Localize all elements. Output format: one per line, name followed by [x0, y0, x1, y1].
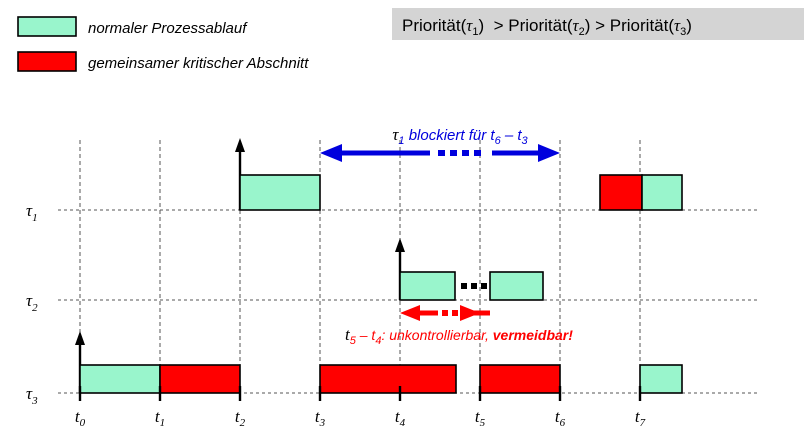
priority-gt-sym-2: > — [595, 16, 605, 35]
blocking-annotation: τ1 blockiert für t6 – t3 — [320, 125, 560, 162]
priority-p3-text: Priorität( — [610, 16, 675, 35]
block-tau3-critical-3 — [480, 365, 560, 393]
track-label-tau1-sub: 1 — [32, 212, 38, 224]
priority-formula: Priorität(τ1) > Priorität(τ2) > Prioritä… — [402, 16, 692, 38]
track-label-tau2-sub: 2 — [32, 302, 38, 314]
track-tau2 — [395, 238, 543, 300]
tick-label-t2: t2 — [235, 407, 246, 429]
uncontrollable-annotation: t5 – t4: unkontrollierbar, vermeidbar! — [345, 305, 573, 347]
block-tau3-critical-1 — [160, 365, 240, 393]
tick-label-t5: t5 — [475, 407, 486, 429]
gridlines — [80, 140, 640, 393]
block-tau1-critical-1 — [600, 175, 642, 210]
track-label-tau2: τ2 — [26, 291, 38, 314]
tick-label-t1: t1 — [155, 407, 165, 429]
block-tau3-critical-2 — [320, 365, 456, 393]
priority-p2-text: Priorität( — [508, 16, 573, 35]
track-label-tau1: τ1 — [26, 201, 38, 224]
tick-label-t6-sub: 6 — [560, 417, 566, 429]
unc-bold: vermeidbar! — [493, 327, 573, 343]
block-tau3-normal-1 — [80, 365, 160, 393]
block-tau2-normal-2 — [490, 272, 543, 300]
legend-label-critical: gemeinsamer kritischer Abschnitt — [88, 55, 309, 72]
priority-gt-sym-1: > — [494, 16, 504, 35]
block-tau1-normal-1 — [240, 175, 320, 210]
arrival-arrow-tau2-head — [395, 238, 405, 252]
uncontrollable-arrowhead-left — [400, 305, 420, 321]
diagram-canvas: normaler Prozessablauf gemeinsamer kriti… — [0, 0, 812, 432]
tick-label-t3-sub: 3 — [319, 417, 326, 429]
tick-label-t4: t4 — [395, 407, 406, 429]
track-label-tau3: τ3 — [26, 384, 38, 407]
priority-p3-close: ) — [686, 16, 692, 35]
block-tau2-normal-1 — [400, 272, 455, 300]
priority-inversion-diagram: normaler Prozessablauf gemeinsamer kriti… — [0, 0, 812, 432]
blocking-sub3: 3 — [522, 135, 529, 147]
uncontrollable-arrowhead-right — [460, 305, 480, 321]
tick-label-t2-sub: 2 — [240, 417, 246, 429]
blocking-dash: – t — [501, 127, 523, 144]
arrival-arrow-tau1-head — [235, 138, 245, 152]
priority-p1-text: Priorität( — [402, 16, 467, 35]
blocking-arrowhead-right — [538, 144, 560, 162]
blocking-arrow-dots — [438, 150, 481, 156]
tick-label-t7-sub: 7 — [640, 417, 646, 429]
tick-label-t1-sub: 1 — [160, 417, 166, 429]
arrival-arrow-tau3-head — [75, 331, 85, 345]
tick-label-t0: t0 — [75, 407, 86, 429]
tick-label-t4-sub: 4 — [400, 417, 406, 429]
tick-label-t7: t7 — [635, 407, 646, 429]
blocking-annotation-label: τ1 blockiert für t6 – t3 — [392, 125, 528, 147]
green-swatch — [18, 17, 76, 36]
blocking-arrowhead-left — [320, 144, 342, 162]
legend-label-normal: normaler Prozessablauf — [88, 20, 248, 37]
uncontrollable-annotation-label: t5 – t4: unkontrollierbar, vermeidbar! — [345, 325, 573, 347]
track-tau1 — [235, 138, 682, 210]
tick-label-t0-sub: 0 — [80, 417, 86, 429]
block-tau3-normal-2 — [640, 365, 682, 393]
ellipsis-tau2 — [461, 283, 487, 289]
track-label-tau3-sub: 3 — [31, 395, 38, 407]
unc-dash: – t — [356, 327, 377, 343]
tick-label-t5-sub: 5 — [480, 417, 486, 429]
block-tau1-normal-2 — [642, 175, 682, 210]
tick-label-t6: t6 — [555, 407, 566, 429]
blocking-mid: blockiert für t — [405, 127, 496, 144]
priority-gt-1 — [484, 16, 493, 35]
unc-rest: : unkontrollierbar, — [381, 327, 492, 343]
red-swatch — [18, 52, 76, 71]
tick-label-t3: t3 — [315, 407, 326, 429]
